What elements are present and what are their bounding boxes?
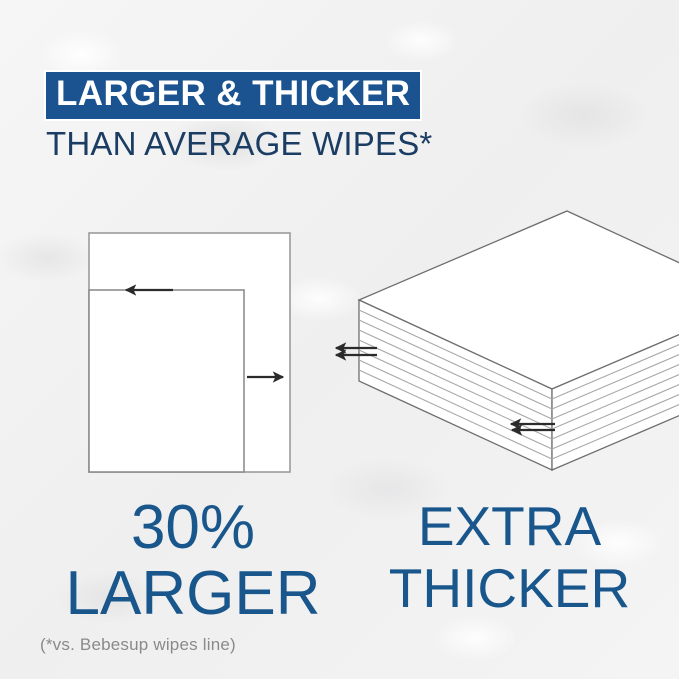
stack-sheet-lines-left: [359, 310, 552, 459]
stack-sheet-lines-right: [552, 310, 679, 459]
footnote-text: (*vs. Bebesup wipes line): [40, 634, 236, 656]
infographic-canvas: LARGER & THICKER THAN AVERAGE WIPES*: [0, 0, 679, 679]
stack-top-face: [359, 211, 679, 389]
headline-banner-text: LARGER & THICKER: [56, 75, 410, 113]
left-stat-block: 30% LARGER: [28, 495, 358, 627]
right-stat-label: THICKER: [352, 557, 667, 619]
headline-banner: LARGER & THICKER: [44, 70, 422, 121]
left-stat-label: LARGER: [28, 561, 358, 627]
right-stat-block: EXTRA THICKER: [352, 495, 667, 619]
stack-left-face: [359, 300, 552, 470]
thickness-stack-diagram: [336, 211, 679, 470]
size-comparison-diagram: [89, 233, 290, 472]
right-stat-value: EXTRA: [352, 495, 667, 557]
outer-wipe-rectangle: [89, 233, 290, 472]
left-stat-value: 30%: [28, 495, 358, 561]
stack-right-face: [552, 300, 679, 470]
inner-wipe-rectangle: [89, 290, 244, 472]
subheadline-text: THAN AVERAGE WIPES*: [46, 124, 432, 164]
